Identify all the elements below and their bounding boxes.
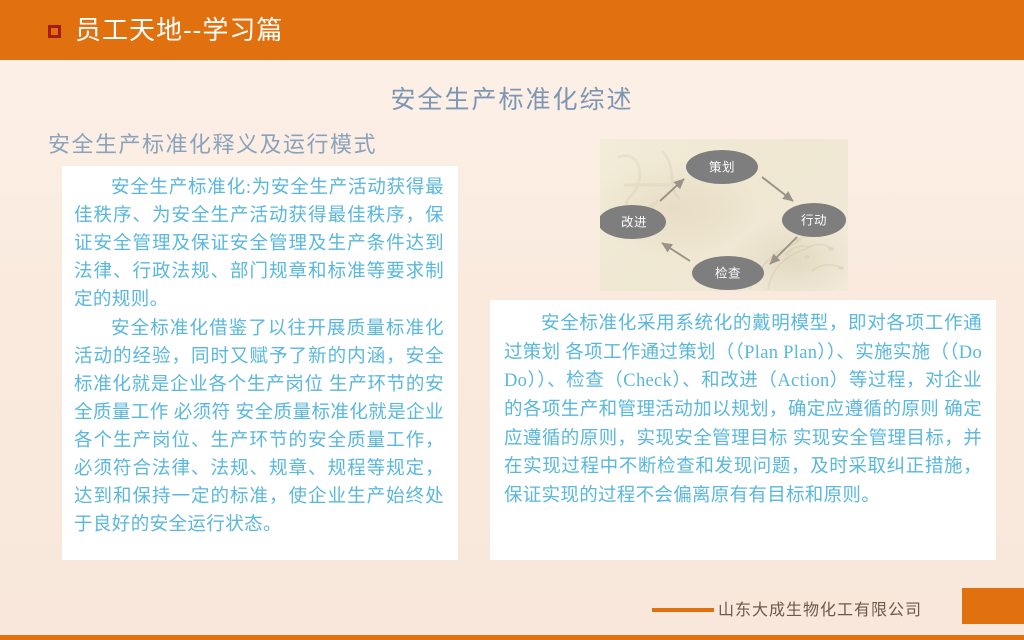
pdca-node-plan: 策划 [686,150,758,184]
check-node-label: 检查 [715,265,741,280]
footer-accent-block [962,588,1024,624]
header-bar: 员工天地--学习篇 [0,0,1024,60]
page-title: 安全生产标准化综述 [0,80,1024,116]
arrow-plan-to-do [762,177,793,201]
header-title: 员工天地--学习篇 [75,17,283,43]
footer-company-name: 山东大成生物化工有限公司 [718,596,922,620]
slide-canvas: 员工天地--学习篇 安全生产标准化综述 安全生产标准化释义及运行模式 安全生产标… [0,0,1024,640]
pdca-diagram-graphic: 策划 行动 检查 改进 [600,139,848,291]
pdca-node-act: 改进 [600,205,666,239]
do-node-label: 行动 [801,213,827,227]
pdca-arrow-group [660,177,797,264]
arrow-act-to-plan [660,179,684,201]
footer-rule [652,608,714,612]
square-outline-icon [48,25,61,38]
pdca-node-check: 检查 [692,256,764,290]
pdca-node-do: 行动 [782,203,846,237]
arrow-check-to-act [662,243,690,261]
header-content: 员工天地--学习篇 [48,0,283,60]
bottom-accent-bar [0,635,1024,640]
section-title: 安全生产标准化释义及运行模式 [48,127,377,159]
right-text-panel: 安全标准化采用系统化的戴明模型，即对各项工作通过策划 各项工作通过策划（（Pla… [490,300,996,560]
left-text-panel: 安全生产标准化:为安全生产活动获得最佳秩序、为安全生产活动获得最佳秩序，保证安全… [62,166,458,560]
left-paragraph-2: 安全标准化借鉴了以往开展质量标准化活动的经验，同时又赋予了新的内涵，安全标准化就… [74,315,444,540]
plan-node-label: 策划 [709,159,735,174]
act-node-label: 改进 [621,215,647,229]
arrow-do-to-check [770,237,797,264]
right-paragraph-1: 安全标准化采用系统化的戴明模型，即对各项工作通过策划 各项工作通过策划（（Pla… [504,310,982,511]
pdca-cycle-diagram: 策划 行动 检查 改进 [600,139,848,291]
left-paragraph-1: 安全生产标准化:为安全生产活动获得最佳秩序、为安全生产活动获得最佳秩序，保证安全… [74,174,444,315]
